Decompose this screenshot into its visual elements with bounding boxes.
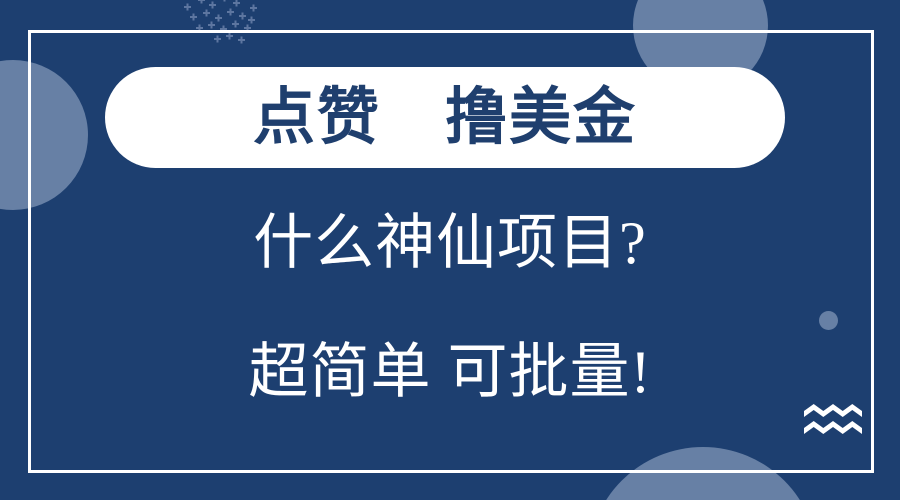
headline-pill: 点赞 撸美金 [105,67,785,168]
tagline-text: 超简单 可批量! [0,342,900,402]
subheadline-text: 什么神仙项目? [0,213,900,273]
poster-canvas: 点赞 撸美金 什么神仙项目? 超简单 可批量! [0,0,900,500]
poster-content: 点赞 撸美金 什么神仙项目? 超简单 可批量! [0,0,900,500]
headline-text: 点赞 撸美金 [253,87,637,149]
